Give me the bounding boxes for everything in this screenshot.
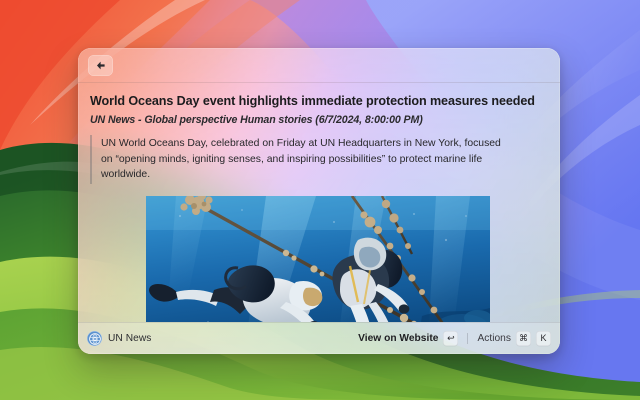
k-key-cap[interactable]: K	[536, 331, 551, 346]
article-title: World Oceans Day event highlights immedi…	[78, 94, 560, 110]
return-key-cap[interactable]: ↩	[443, 331, 458, 346]
article-hero-image	[146, 196, 490, 322]
article-quote: UN World Oceans Day, celebrated on Frida…	[90, 135, 510, 184]
panel-footer: UN News View on Website ↩ Actions ⌘ K	[78, 322, 560, 354]
article-body: World Oceans Day event highlights immedi…	[78, 83, 560, 322]
actions-menu-action[interactable]: Actions ⌘ K	[477, 331, 551, 346]
divers-coral-illustration	[146, 196, 490, 322]
view-on-website-label: View on Website	[358, 333, 438, 344]
footer-source-label: UN News	[108, 333, 151, 344]
view-on-website-action[interactable]: View on Website ↩	[358, 331, 458, 346]
actions-label: Actions	[477, 333, 511, 344]
footer-source[interactable]: UN News	[87, 331, 151, 346]
article-source-line: UN News - Global perspective Human stori…	[78, 110, 560, 126]
un-emblem-icon	[87, 331, 102, 346]
panel-header	[78, 48, 560, 83]
article-preview-panel: World Oceans Day event highlights immedi…	[78, 48, 560, 354]
back-button[interactable]	[88, 55, 113, 76]
arrow-left-icon	[95, 60, 106, 71]
command-key-cap[interactable]: ⌘	[516, 331, 531, 346]
footer-divider	[467, 333, 468, 344]
